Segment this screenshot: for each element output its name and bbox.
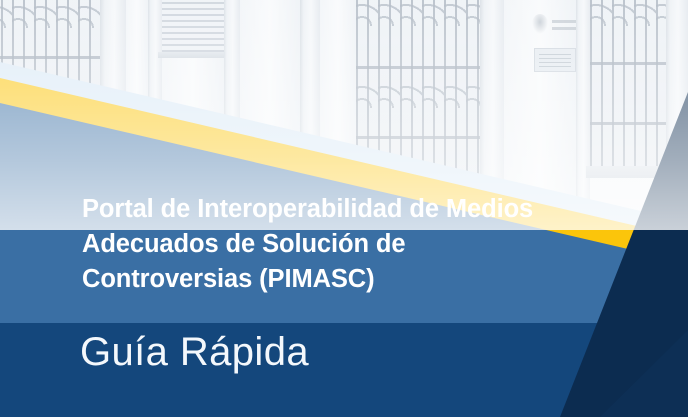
- grille-arches: [590, 0, 666, 26]
- grille-rail: [356, 136, 480, 139]
- cover-banner: Portal de Interoperabilidad de Medios Ad…: [0, 0, 688, 417]
- page-title: Portal de Interoperabilidad de Medios Ad…: [82, 192, 627, 297]
- page-title-line-2: Adecuados de Solución de: [82, 227, 627, 262]
- page-subtitle: Guía Rápida: [80, 328, 309, 376]
- window-shutter: [162, 0, 224, 54]
- window-grille-right: [590, 0, 666, 166]
- grille-rail: [590, 62, 666, 65]
- grille-rail: [590, 122, 666, 125]
- window-sill: [158, 52, 228, 58]
- grille-arches: [356, 82, 480, 108]
- grille-arches: [0, 2, 100, 28]
- building-plaque: [534, 48, 576, 72]
- grille-arches: [356, 0, 480, 26]
- grille-rail: [356, 66, 480, 69]
- page-title-line-3: Controversias (PIMASC): [82, 262, 627, 297]
- building-emblem: [532, 14, 548, 34]
- grille-rail: [0, 56, 100, 59]
- page-title-line-1: Portal de Interoperabilidad de Medios: [82, 192, 627, 227]
